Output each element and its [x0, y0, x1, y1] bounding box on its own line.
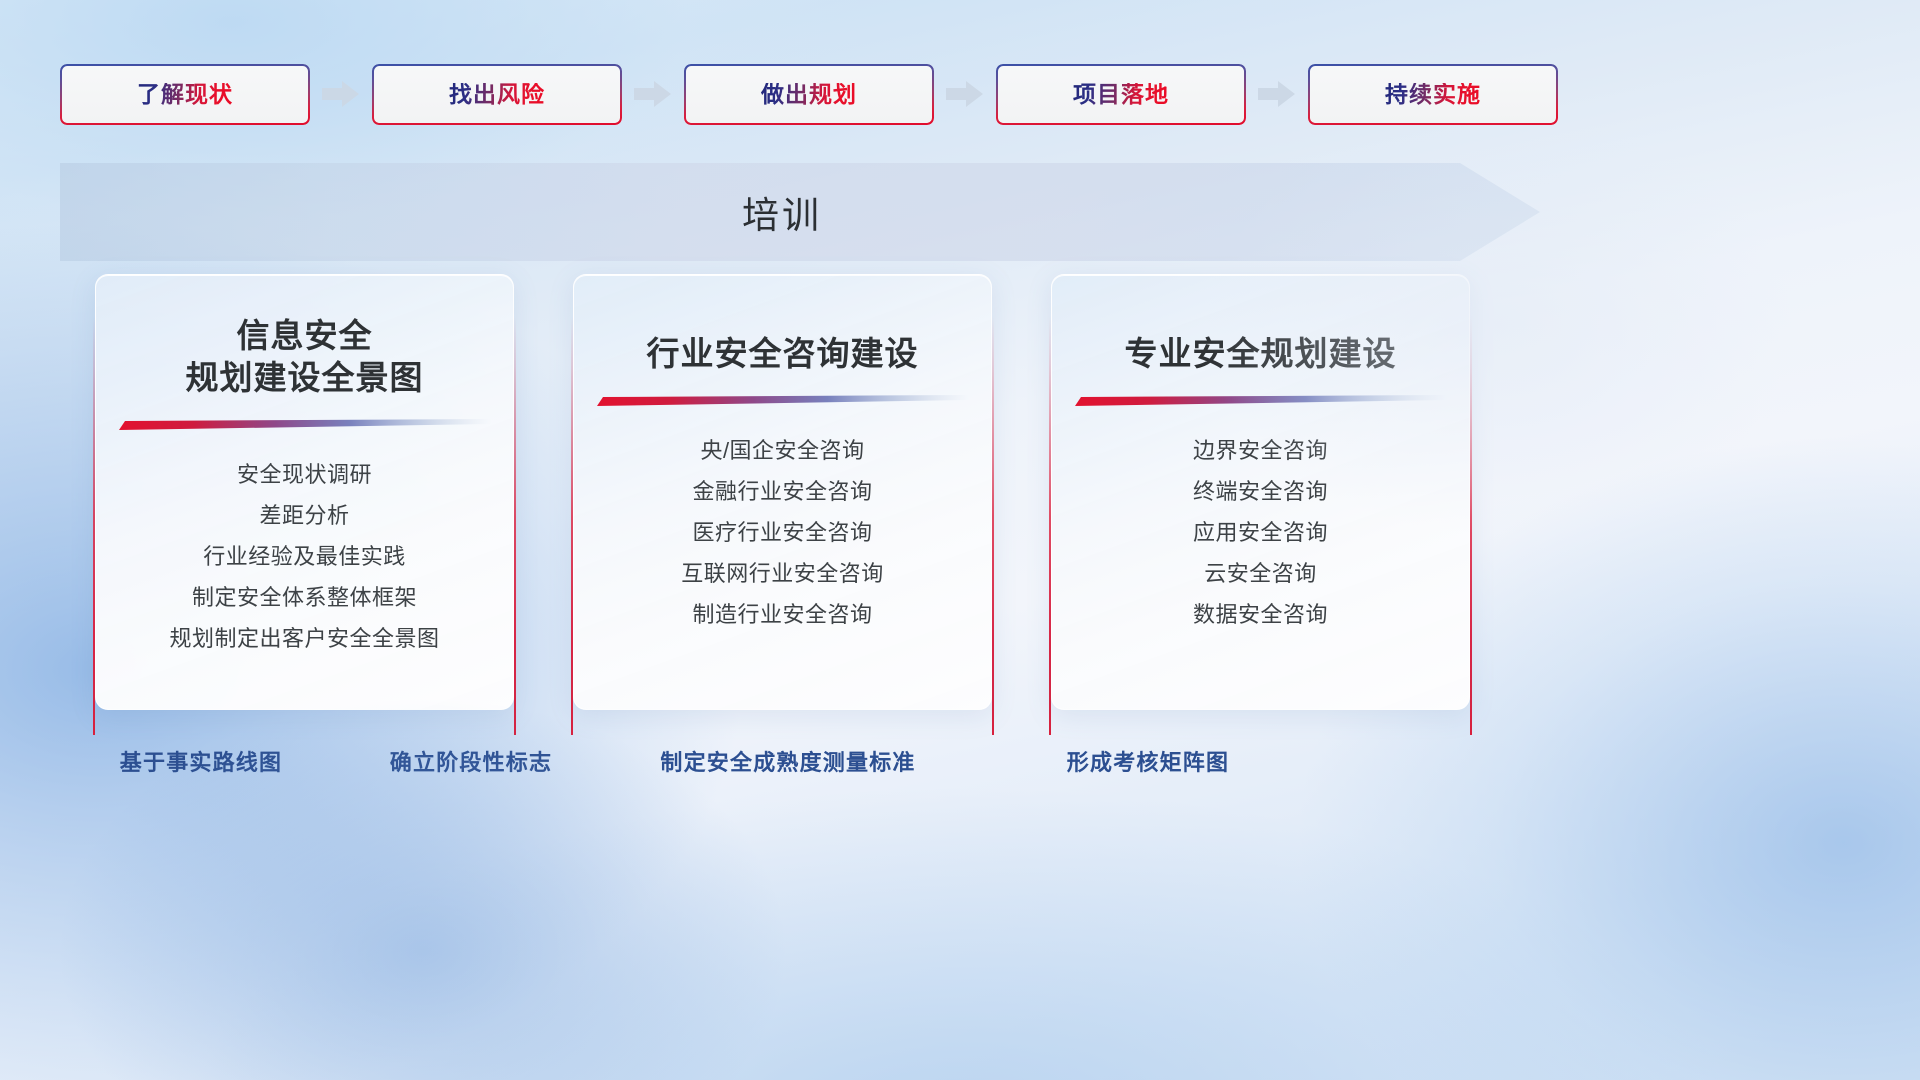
list-item: 金融行业安全咨询 [692, 471, 872, 512]
footer-label-maturity: 制定安全成熟度测量标准 [660, 745, 915, 777]
list-item: 差距分析 [259, 495, 349, 536]
card-item-list: 边界安全咨询 终端安全咨询 应用安全咨询 云安全咨询 数据安全咨询 [1052, 430, 1469, 635]
process-step-label: 持续实施 [1385, 83, 1481, 106]
training-banner: 培训 [60, 163, 1540, 261]
card-group: 信息安全 规划建设全景图 安 [88, 274, 1538, 717]
list-item: 规划制定出客户安全全景图 [169, 618, 439, 659]
process-step-5[interactable]: 持续实施 [1308, 64, 1558, 125]
card-professional-security-planning[interactable]: 专业安全规划建设 边界安全咨 [1051, 274, 1470, 710]
process-step-3[interactable]: 做出规划 [684, 64, 934, 125]
list-item: 安全现状调研 [237, 454, 372, 495]
card-divider [1075, 395, 1447, 408]
list-item: 数据安全咨询 [1193, 594, 1328, 635]
list-item: 制定安全体系整体框架 [192, 577, 417, 618]
process-step-2[interactable]: 找出风险 [372, 64, 622, 125]
card-title: 行业安全咨询建设 [574, 333, 991, 375]
card-wrapper-3: 专业安全规划建设 边界安全咨 [1044, 274, 1477, 717]
process-step-label: 做出规划 [761, 83, 857, 106]
arrow-right-icon-3 [946, 79, 984, 109]
banner-title: 培训 [60, 185, 1540, 239]
card-title: 专业安全规划建设 [1052, 333, 1469, 375]
list-item: 终端安全咨询 [1193, 471, 1328, 512]
process-step-row: 了解现状 找出风险 做出规划 项目落地 持续实施 [60, 63, 1860, 125]
arrow-right-icon-4 [1258, 79, 1296, 109]
card-wrapper-1: 信息安全 规划建设全景图 安 [88, 274, 521, 717]
list-item: 互联网行业安全咨询 [681, 553, 884, 594]
list-item: 边界安全咨询 [1193, 430, 1328, 471]
process-step-4[interactable]: 项目落地 [996, 64, 1246, 125]
list-item: 行业经验及最佳实践 [203, 536, 406, 577]
process-step-1[interactable]: 了解现状 [60, 64, 310, 125]
list-item: 央/国企安全咨询 [700, 430, 864, 471]
list-item: 制造行业安全咨询 [692, 594, 872, 635]
card-title: 信息安全 规划建设全景图 [96, 315, 513, 399]
card-industry-security-consulting[interactable]: 行业安全咨询建设 央/国企安 [573, 274, 992, 710]
list-item: 云安全咨询 [1204, 553, 1317, 594]
process-step-label: 了解现状 [137, 83, 233, 106]
card-accent-line-right [1470, 316, 1472, 735]
footer-label-matrix: 形成考核矩阵图 [1067, 745, 1229, 777]
arrow-right-icon-1 [322, 79, 360, 109]
card-divider [597, 395, 969, 408]
card-accent-line-right [992, 316, 994, 735]
footer-label-milestone: 确立阶段性标志 [390, 745, 552, 777]
process-step-label: 找出风险 [449, 83, 545, 106]
list-item: 应用安全咨询 [1193, 512, 1328, 553]
footer-label-roadmap: 基于事实路线图 [120, 745, 282, 777]
footer-label-row: 基于事实路线图 确立阶段性标志 制定安全成熟度测量标准 形成考核矩阵图 [0, 745, 1920, 789]
card-information-security-panorama[interactable]: 信息安全 规划建设全景图 安 [95, 274, 514, 710]
list-item: 医疗行业安全咨询 [692, 512, 872, 553]
card-item-list: 安全现状调研 差距分析 行业经验及最佳实践 制定安全体系整体框架 规划制定出客户… [96, 454, 513, 659]
slide-canvas: 了解现状 找出风险 做出规划 项目落地 持续实施 [0, 0, 1920, 1080]
arrow-right-icon-2 [634, 79, 672, 109]
card-item-list: 央/国企安全咨询 金融行业安全咨询 医疗行业安全咨询 互联网行业安全咨询 制造行… [574, 430, 991, 635]
card-divider [119, 419, 491, 432]
card-wrapper-2: 行业安全咨询建设 央/国企安 [566, 274, 999, 717]
card-accent-line-right [514, 316, 516, 735]
process-step-label: 项目落地 [1073, 83, 1169, 106]
